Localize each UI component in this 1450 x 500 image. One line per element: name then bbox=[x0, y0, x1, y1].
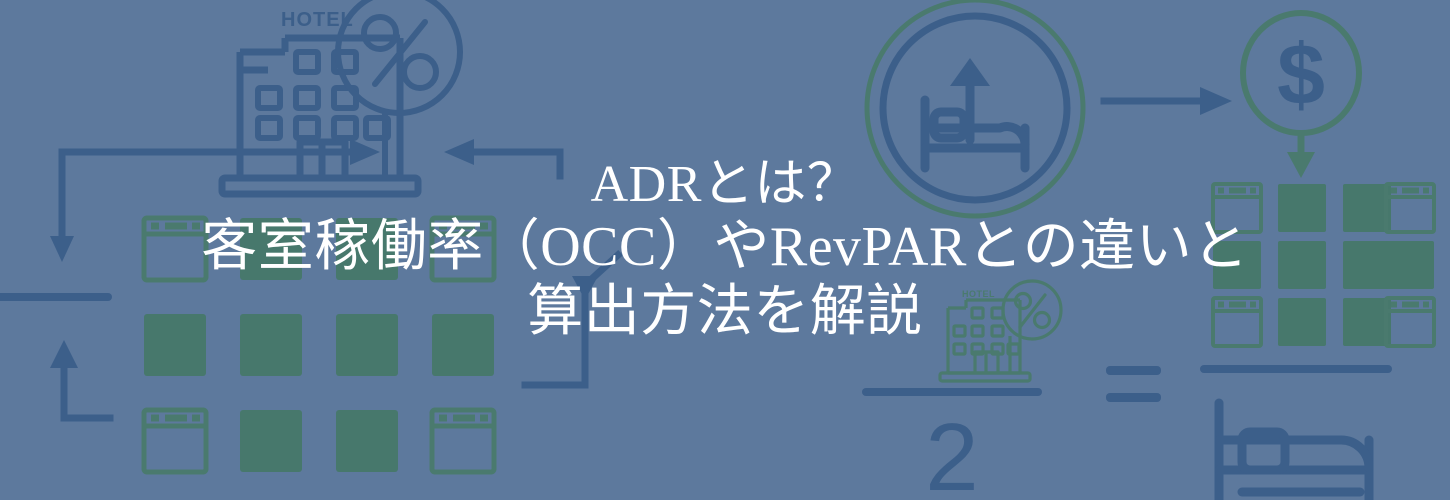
small-hotel-sign-text: HOTEL bbox=[962, 289, 995, 299]
bed-icon bbox=[1219, 403, 1369, 500]
article-hero-banner: HOTEL bbox=[0, 0, 1450, 500]
right-arrow-head-2-icon bbox=[1200, 87, 1232, 115]
up-arrow-icon bbox=[64, 370, 110, 418]
elbow-arrow-head-icon bbox=[50, 236, 74, 262]
right-arrow-head-icon bbox=[350, 139, 380, 165]
fraction-bar-center-icon bbox=[862, 388, 1042, 396]
dollar-circle-icon: $ bbox=[1243, 13, 1359, 133]
fraction-bar-right-icon bbox=[1200, 365, 1392, 373]
up-arrow-head-icon bbox=[50, 340, 78, 368]
center-arrow-head-icon bbox=[572, 276, 598, 300]
dollar-symbol-text: $ bbox=[1277, 27, 1325, 123]
fraction-bar-icon bbox=[0, 293, 112, 301]
center-elbow-arrow-icon bbox=[525, 255, 618, 385]
hotel-windows-icon bbox=[258, 52, 388, 138]
room-grid-right-icon bbox=[1213, 184, 1434, 346]
equals-sign-icon bbox=[1106, 366, 1161, 402]
bed-up-arrow-circle-icon bbox=[867, 0, 1083, 216]
room-grid-icon bbox=[144, 218, 494, 472]
left-arrow-head-icon bbox=[444, 139, 474, 165]
denominator-number-text: 2 bbox=[925, 404, 978, 500]
small-hotel-percent-icon bbox=[940, 281, 1061, 381]
left-arrow-icon bbox=[470, 152, 560, 176]
down-arrow-icon bbox=[1287, 133, 1315, 178]
background-artwork: HOTEL bbox=[0, 0, 1450, 500]
